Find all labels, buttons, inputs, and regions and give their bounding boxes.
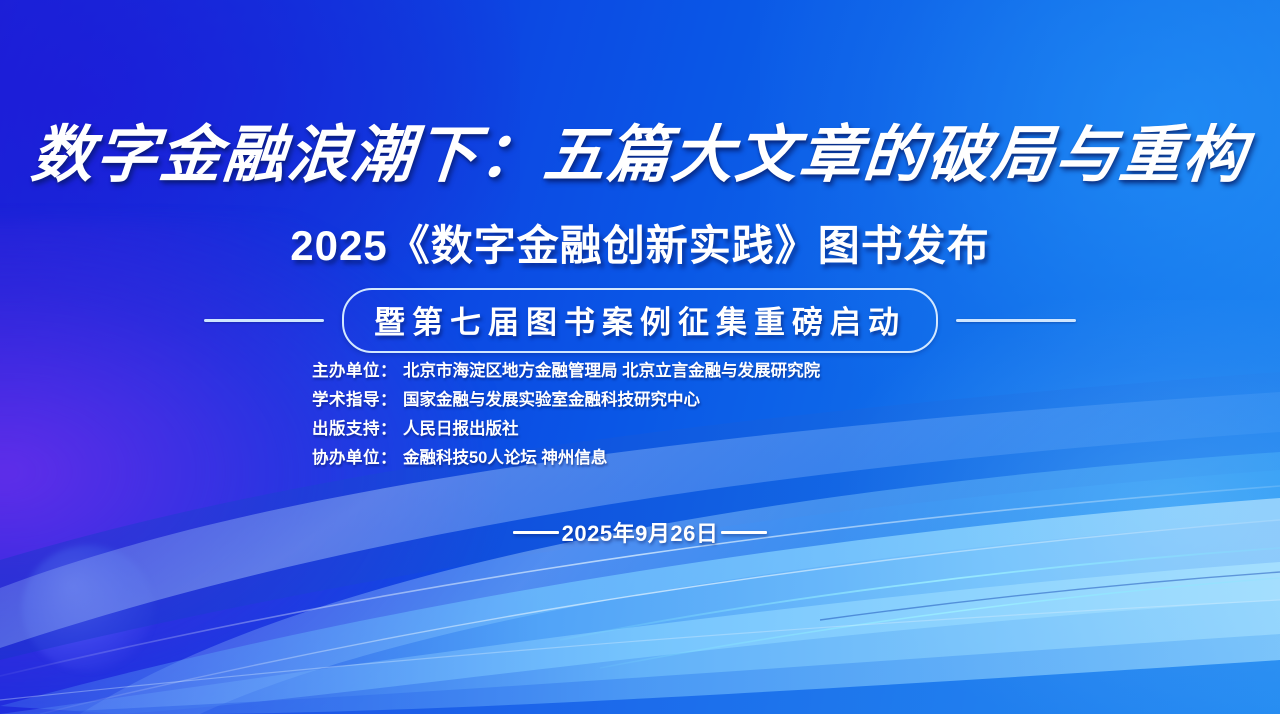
organizer-list: 主办单位：北京市海淀区地方金融管理局 北京立言金融与发展研究院 学术指导：国家金… <box>312 357 820 473</box>
event-date-row: 2025年9月26日 <box>0 516 1280 548</box>
event-poster: 数字金融浪潮下：五篇大文章的破局与重构 2025《数字金融创新实践》图书发布 暨… <box>0 0 1280 714</box>
organizer-value: 人民日报出版社 <box>403 420 519 438</box>
organizer-row: 学术指导：国家金融与发展实验室金融科技研究中心 <box>312 386 820 415</box>
organizer-label: 主办单位： <box>312 362 397 380</box>
pill-banner-row: 暨第七届图书案例征集重磅启动 <box>0 288 1280 353</box>
divider-line-right <box>956 319 1076 322</box>
organizer-label: 学术指导： <box>312 391 397 409</box>
organizer-label: 协办单位： <box>312 449 397 467</box>
date-dash-right <box>721 531 767 534</box>
main-title: 数字金融浪潮下：五篇大文章的破局与重构 <box>0 104 1280 194</box>
organizer-row: 出版支持：人民日报出版社 <box>312 415 820 444</box>
organizer-label: 出版支持： <box>312 420 397 438</box>
organizer-value: 北京市海淀区地方金融管理局 北京立言金融与发展研究院 <box>403 362 820 380</box>
organizer-value: 金融科技50人论坛 神州信息 <box>403 449 607 467</box>
sub-title: 2025《数字金融创新实践》图书发布 <box>0 212 1280 273</box>
organizer-row: 主办单位：北京市海淀区地方金融管理局 北京立言金融与发展研究院 <box>312 357 820 386</box>
event-date: 2025年9月26日 <box>562 516 719 548</box>
poster-content: 数字金融浪潮下：五篇大文章的破局与重构 2025《数字金融创新实践》图书发布 暨… <box>0 0 1280 714</box>
divider-line-left <box>204 319 324 322</box>
date-dash-left <box>513 531 559 534</box>
organizer-value: 国家金融与发展实验室金融科技研究中心 <box>403 391 700 409</box>
pill-banner-text: 暨第七届图书案例征集重磅启动 <box>342 288 938 353</box>
organizer-row: 协办单位：金融科技50人论坛 神州信息 <box>312 444 820 473</box>
